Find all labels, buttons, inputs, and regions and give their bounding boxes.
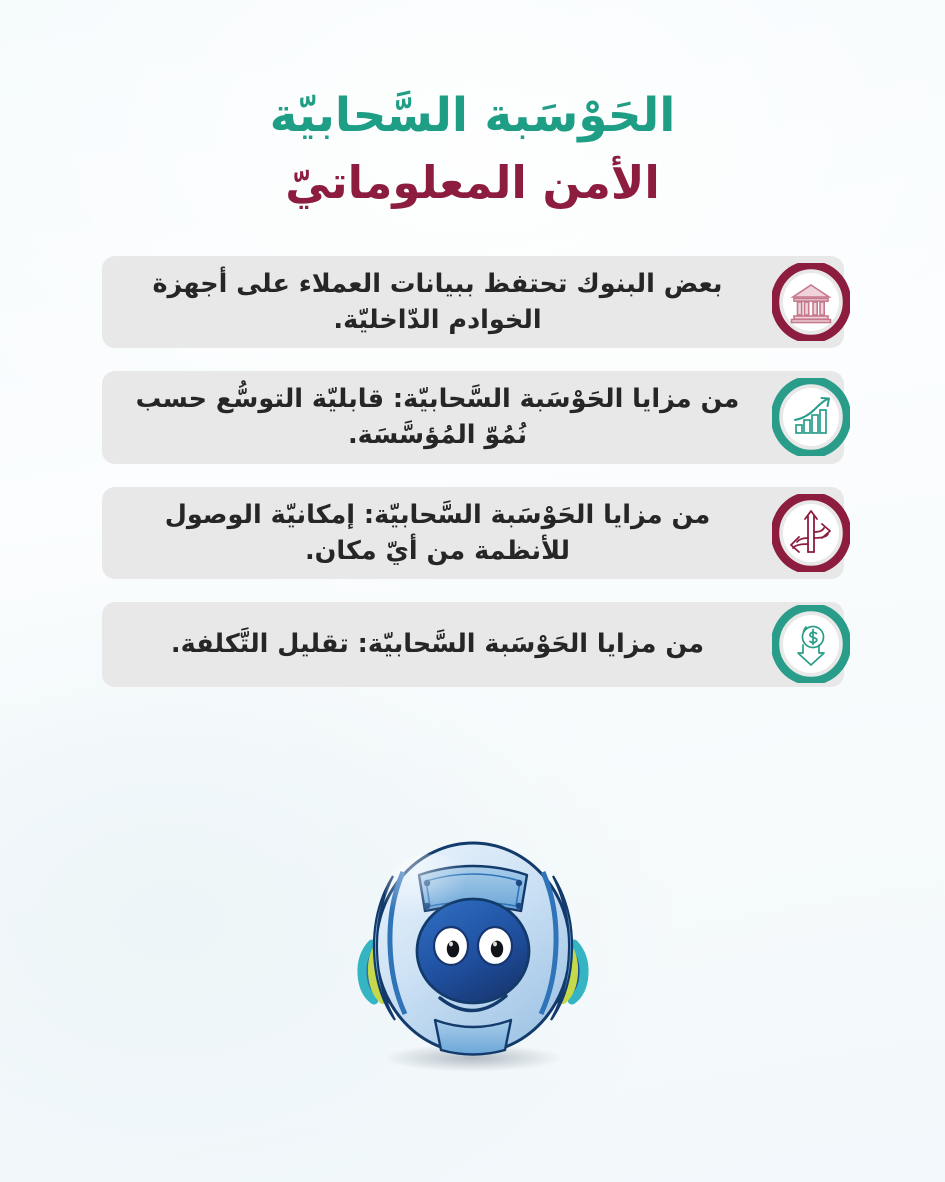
robot-mascot xyxy=(0,826,945,1076)
fact-card-text: من مزايا الحَوْسَبة السَّحابيّة: إمكانيّ… xyxy=(128,497,748,569)
fact-card[interactable]: من مزايا الحَوْسَبة السَّحابيّة: قابليّة… xyxy=(102,371,844,463)
cost-reduction-icon xyxy=(772,605,850,683)
fact-card[interactable]: من مزايا الحَوْسَبة السَّحابيّة: إمكانيّ… xyxy=(102,487,844,579)
fact-card-list: بعض البنوك تحتفظ ببيانات العملاء على أجه… xyxy=(0,256,945,687)
infographic-page: الحَوْسَبة السَّحابيّة الأمن المعلوماتيّ… xyxy=(0,0,945,1182)
title-line-information-security: الأمن المعلوماتيّ xyxy=(0,154,945,212)
fact-card[interactable]: من مزايا الحَوْسَبة السَّحابيّة: تقليل ا… xyxy=(102,602,844,687)
growth-chart-icon xyxy=(772,378,850,456)
fact-card-text: من مزايا الحَوْسَبة السَّحابيّة: تقليل ا… xyxy=(128,626,748,662)
bank-icon xyxy=(772,263,850,341)
title-line-cloud-computing: الحَوْسَبة السَّحابيّة xyxy=(0,86,945,146)
fact-card-text: من مزايا الحَوْسَبة السَّحابيّة: قابليّة… xyxy=(128,381,748,453)
page-title: الحَوْسَبة السَّحابيّة الأمن المعلوماتيّ xyxy=(0,0,945,212)
fact-card-text: بعض البنوك تحتفظ ببيانات العملاء على أجه… xyxy=(128,266,748,338)
fact-card[interactable]: بعض البنوك تحتفظ ببيانات العملاء على أجه… xyxy=(102,256,844,348)
branching-arrows-icon xyxy=(772,494,850,572)
